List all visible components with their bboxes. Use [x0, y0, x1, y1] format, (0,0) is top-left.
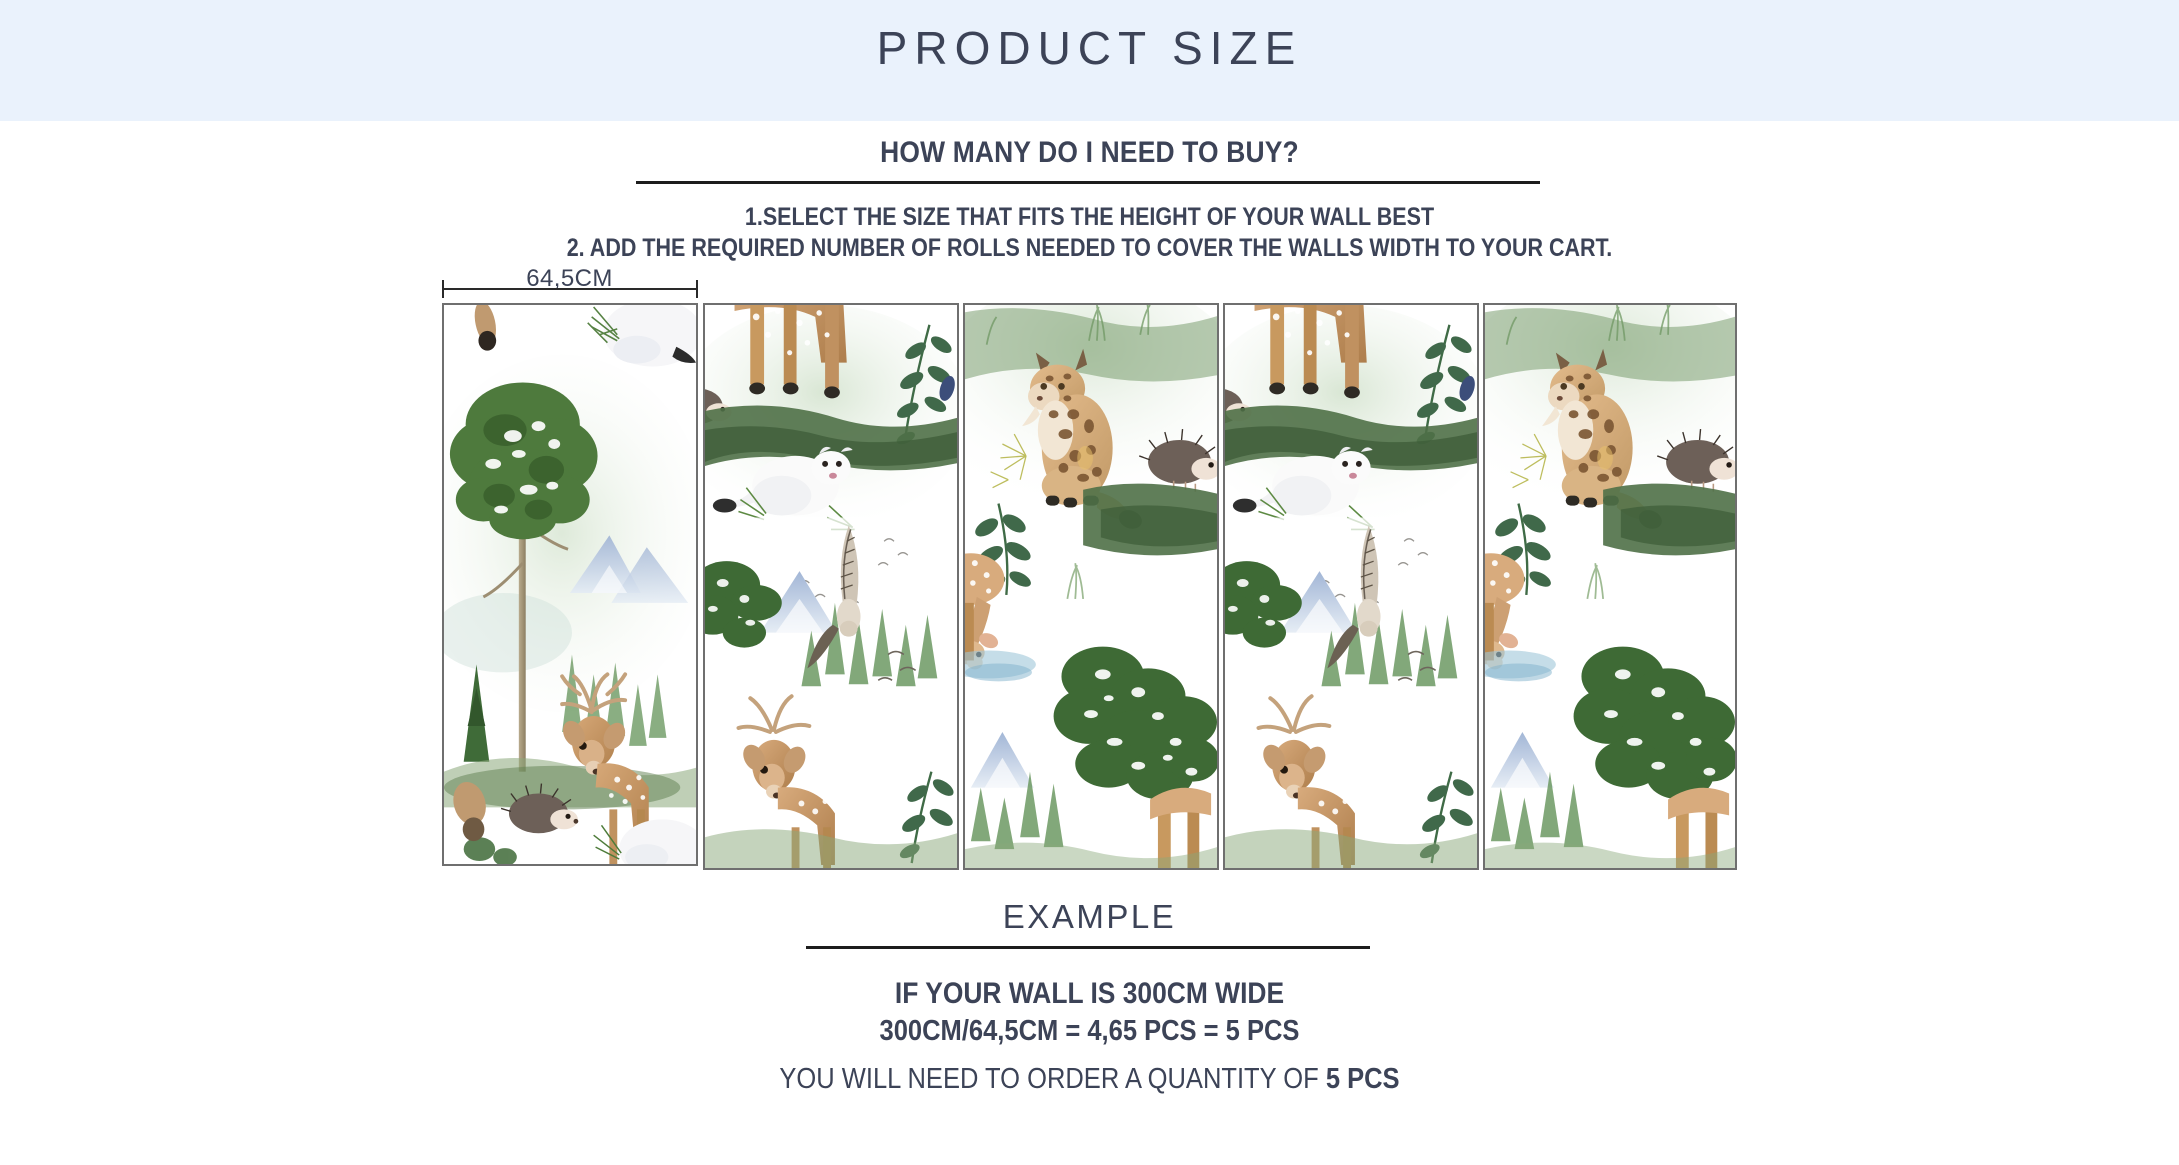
wallpaper-panel-3[interactable]	[963, 303, 1219, 870]
example-line-2: 300CM/64,5CM = 4,65 PCS = 5 PCS	[131, 1015, 2049, 1048]
panel-5-artwork	[1485, 305, 1735, 868]
panel-3-artwork	[965, 305, 1217, 868]
panel-2-artwork	[705, 305, 957, 868]
example-line-1: IF YOUR WALL IS 300CM WIDE	[131, 977, 2049, 1011]
instruction-step-2: 2. ADD THE REQUIRED NUMBER OF ROLLS NEED…	[153, 234, 2027, 263]
wallpaper-panel-strip	[442, 303, 1737, 870]
instructions-heading: HOW MANY DO I NEED TO BUY?	[131, 136, 2049, 170]
dimension-bar	[442, 288, 698, 290]
example-line-3-prefix: YOU WILL NEED TO ORDER A QUANTITY OF	[779, 1063, 1325, 1095]
width-dimension-line	[442, 278, 698, 300]
example-line-3: YOU WILL NEED TO ORDER A QUANTITY OF 5 P…	[131, 1063, 2049, 1096]
example-divider	[806, 946, 1370, 949]
wallpaper-panel-5[interactable]	[1483, 303, 1737, 870]
panel-4-artwork	[1225, 305, 1477, 868]
wallpaper-panel-2[interactable]	[703, 303, 959, 870]
panel-1-artwork	[444, 305, 696, 864]
dimension-tick-right	[696, 280, 698, 298]
example-title: EXAMPLE	[0, 898, 2179, 936]
instruction-step-1: 1.SELECT THE SIZE THAT FITS THE HEIGHT O…	[153, 203, 2027, 232]
wallpaper-panel-1[interactable]	[442, 303, 698, 866]
heading-divider	[636, 181, 1540, 184]
example-quantity-value: 5 PCS	[1326, 1063, 1400, 1095]
product-size-page: PRODUCT SIZE HOW MANY DO I NEED TO BUY? …	[0, 0, 2179, 1165]
wallpaper-panel-4[interactable]	[1223, 303, 1479, 870]
page-title: PRODUCT SIZE	[0, 18, 2179, 78]
